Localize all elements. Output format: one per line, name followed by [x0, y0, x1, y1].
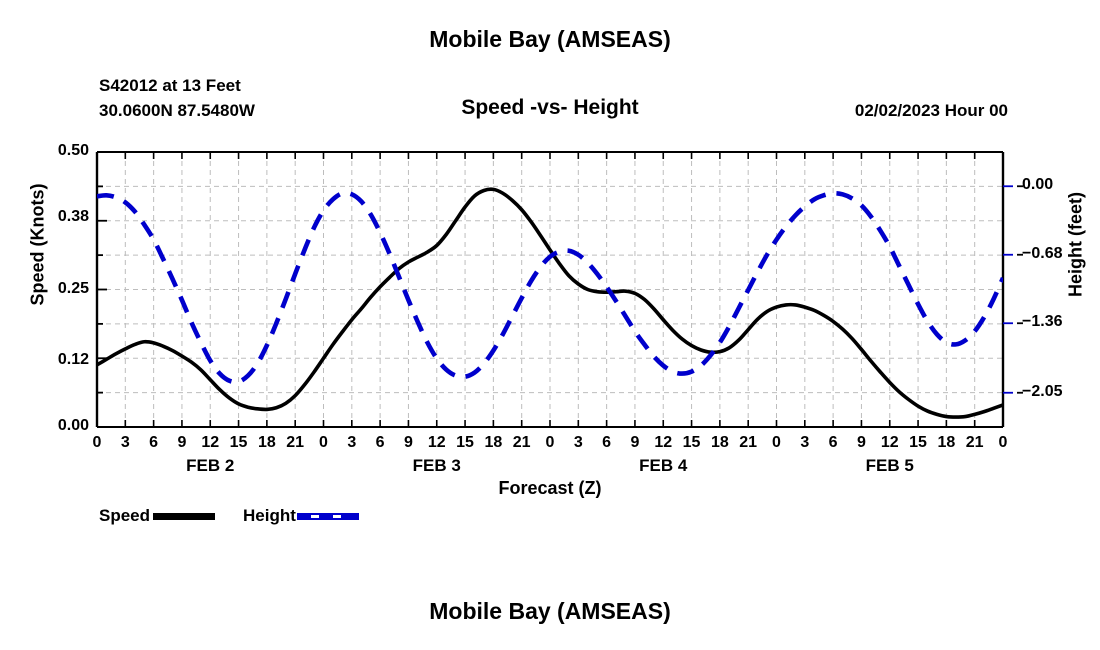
chart-page: Mobile Bay (AMSEAS) S42012 at 13 Feet 30… [0, 0, 1100, 650]
x-axis-tick-label: 18 [705, 434, 735, 452]
x-axis-tick-label: 15 [450, 434, 480, 452]
y-axis-left-tick-label: 0.25 [58, 280, 89, 298]
legend-swatch-height-icon [297, 513, 359, 520]
y-axis-right-tick-label: −0.68 [1022, 245, 1062, 263]
x-axis-day-label: FEB 5 [830, 456, 950, 476]
x-axis-tick-label: 3 [337, 434, 367, 452]
x-axis-tick-label: 18 [252, 434, 282, 452]
y-axis-right-tick-label: −1.36 [1022, 313, 1062, 331]
x-axis-tick-label: 12 [648, 434, 678, 452]
x-axis-tick-label: 0 [535, 434, 565, 452]
x-axis-tick-label: 9 [167, 434, 197, 452]
y-axis-left-tick-label: 0.50 [58, 142, 89, 160]
x-axis-tick-label: 6 [139, 434, 169, 452]
x-axis-tick-label: 21 [960, 434, 990, 452]
legend-label-speed: Speed [99, 506, 150, 526]
x-axis-tick-label: 3 [790, 434, 820, 452]
x-axis-tick-label: 18 [931, 434, 961, 452]
x-axis-tick-label: 0 [309, 434, 339, 452]
x-axis-tick-label: 0 [988, 434, 1018, 452]
page-footer-title: Mobile Bay (AMSEAS) [0, 598, 1100, 625]
x-axis-tick-label: 9 [846, 434, 876, 452]
x-axis-day-label: FEB 4 [603, 456, 723, 476]
series-line-speed [97, 189, 1003, 417]
y-axis-left-tick-label: 0.12 [58, 351, 89, 369]
y-axis-left-tick-label: 0.00 [58, 417, 89, 435]
x-axis-tick-label: 21 [280, 434, 310, 452]
chart-legend: Speed Height [99, 506, 359, 526]
x-axis-tick-label: 6 [818, 434, 848, 452]
y-axis-left-tick-label: 0.38 [58, 208, 89, 226]
legend-item-height: Height [243, 506, 359, 526]
chart-plot-area [0, 0, 1100, 650]
x-axis-tick-label: 12 [875, 434, 905, 452]
x-axis-tick-label: 0 [762, 434, 792, 452]
x-axis-tick-label: 18 [478, 434, 508, 452]
y-axis-right-tick-label: −2.05 [1022, 383, 1062, 401]
x-axis-tick-label: 9 [620, 434, 650, 452]
x-axis-tick-label: 21 [507, 434, 537, 452]
x-axis-tick-label: 21 [733, 434, 763, 452]
legend-label-height: Height [243, 506, 296, 526]
x-axis-tick-label: 3 [110, 434, 140, 452]
x-axis-tick-label: 6 [592, 434, 622, 452]
x-axis-tick-label: 12 [422, 434, 452, 452]
legend-swatch-speed-icon [153, 513, 215, 520]
x-axis-day-label: FEB 3 [377, 456, 497, 476]
x-axis-day-label: FEB 2 [150, 456, 270, 476]
x-axis-tick-label: 12 [195, 434, 225, 452]
x-axis-tick-label: 0 [82, 434, 112, 452]
x-axis-tick-label: 6 [365, 434, 395, 452]
x-axis-tick-label: 15 [677, 434, 707, 452]
x-axis-tick-label: 9 [393, 434, 423, 452]
x-axis-tick-label: 15 [224, 434, 254, 452]
x-axis-tick-label: 15 [903, 434, 933, 452]
x-axis-tick-label: 3 [563, 434, 593, 452]
y-axis-right-tick-label: 0.00 [1022, 176, 1053, 194]
legend-item-speed: Speed [99, 506, 215, 526]
